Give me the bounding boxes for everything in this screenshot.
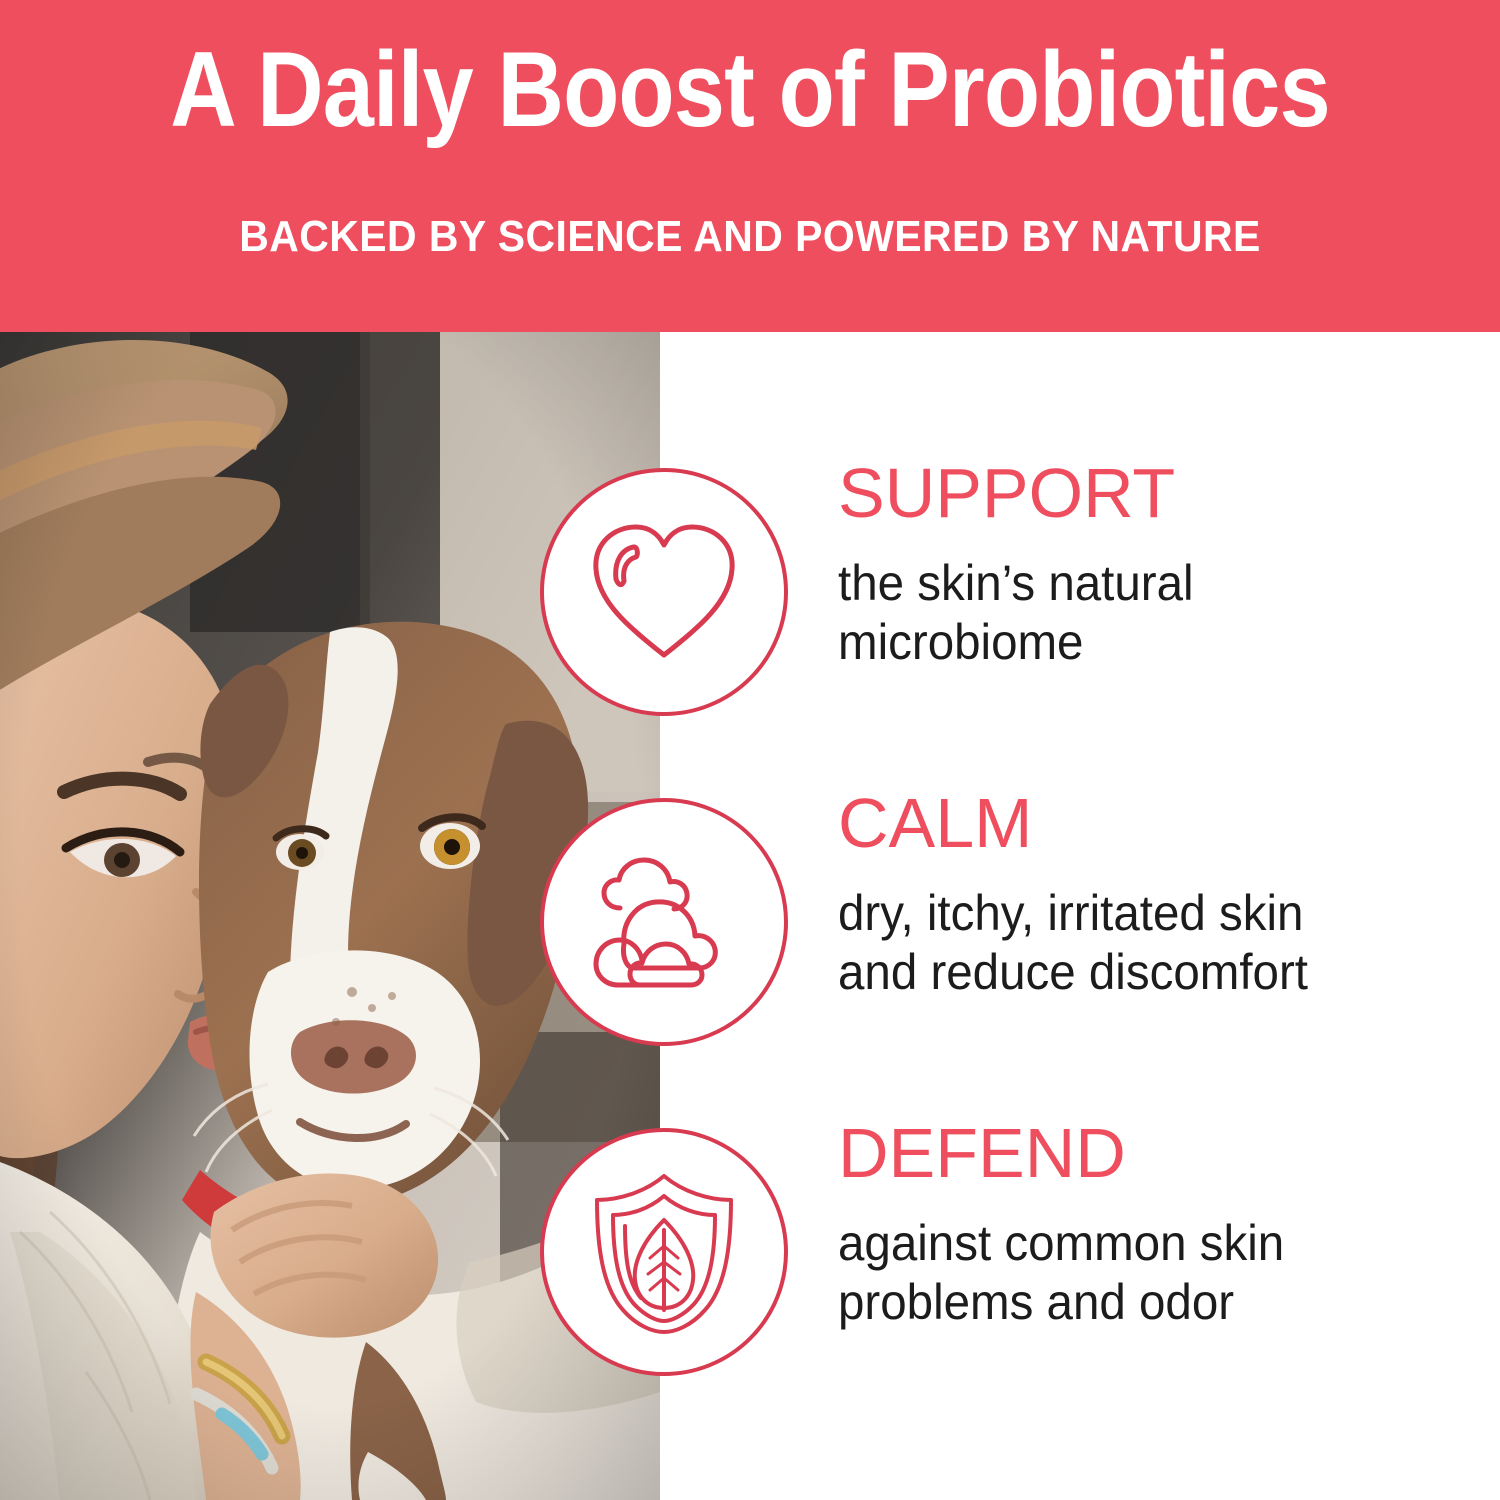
- promo-banner: A Daily Boost of Probiotics BACKED BY SC…: [0, 0, 1500, 1500]
- heart-icon: [540, 468, 788, 716]
- page-subtitle: BACKED BY SCIENCE AND POWERED BY NATURE: [53, 215, 1448, 259]
- benefit-body-line: the skin’s natural: [838, 554, 1465, 613]
- benefit-body-line: microbiome: [838, 613, 1465, 672]
- benefit-text-calm: CALM dry, itchy, irritated skin and redu…: [838, 788, 1498, 1002]
- benefit-body-support: the skin’s natural microbiome: [838, 528, 1465, 672]
- header-banner: A Daily Boost of Probiotics BACKED BY SC…: [0, 0, 1500, 332]
- benefit-heading-defend: DEFEND: [838, 1118, 1498, 1188]
- benefits-list: SUPPORT the skin’s natural microbiome: [520, 332, 1500, 1500]
- page-title: A Daily Boost of Probiotics: [105, 36, 1395, 143]
- benefit-body-line: dry, itchy, irritated skin: [838, 884, 1465, 943]
- benefit-item-defend: DEFEND against common skin problems and …: [520, 1118, 1500, 1448]
- clouds-icon: [540, 798, 788, 1046]
- benefit-text-support: SUPPORT the skin’s natural microbiome: [838, 458, 1498, 672]
- benefit-body-defend: against common skin problems and odor: [838, 1188, 1465, 1332]
- benefit-text-defend: DEFEND against common skin problems and …: [838, 1118, 1498, 1332]
- benefit-body-line: problems and odor: [838, 1273, 1465, 1332]
- benefit-body-line: and reduce discomfort: [838, 943, 1465, 1002]
- benefit-heading-calm: CALM: [838, 788, 1498, 858]
- benefit-heading-support: SUPPORT: [838, 458, 1498, 528]
- shield-leaf-icon: [540, 1128, 788, 1376]
- benefit-item-support: SUPPORT the skin’s natural microbiome: [520, 458, 1500, 788]
- benefit-body-line: against common skin: [838, 1214, 1465, 1273]
- benefit-body-calm: dry, itchy, irritated skin and reduce di…: [838, 858, 1465, 1002]
- benefit-item-calm: CALM dry, itchy, irritated skin and redu…: [520, 788, 1500, 1118]
